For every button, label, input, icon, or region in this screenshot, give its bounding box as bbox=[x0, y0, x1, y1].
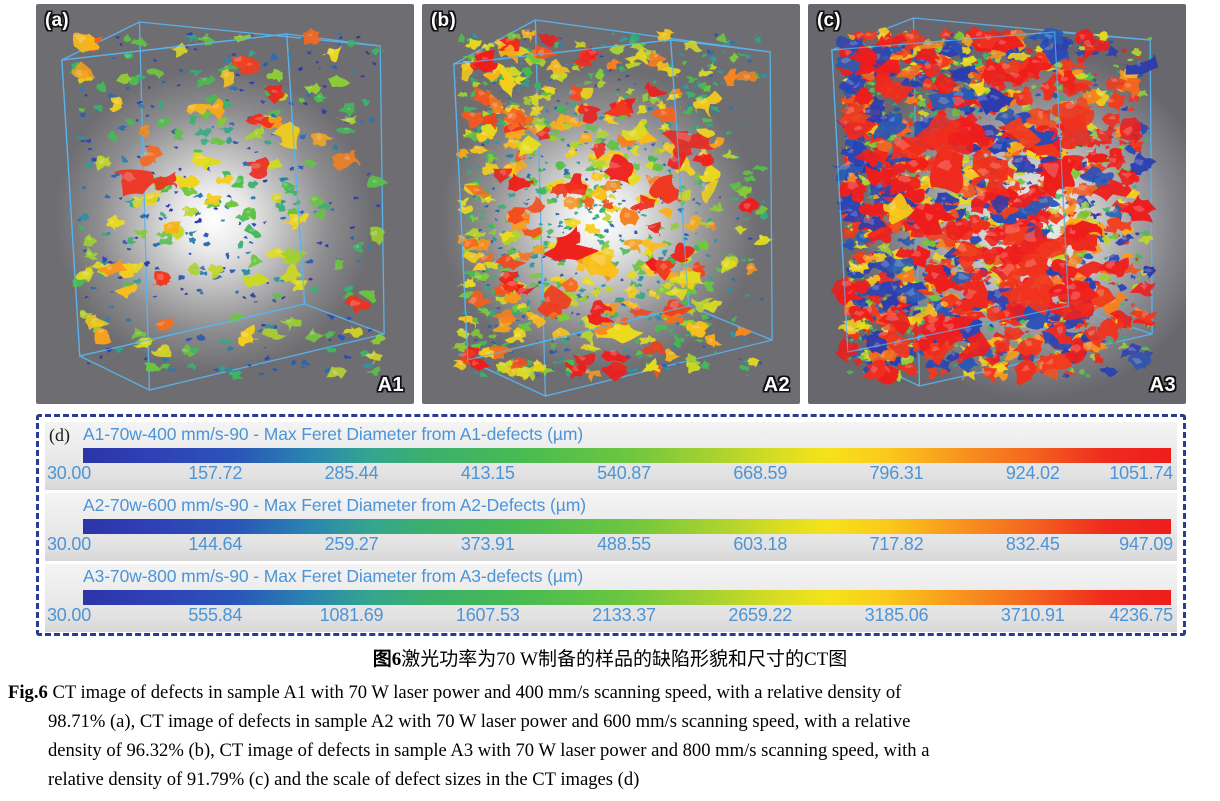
colorbar-a2-title: A2-70w-600 mm/s-90 - Max Feret Diameter … bbox=[83, 495, 586, 516]
ct-panel-a1: (a) A1 bbox=[36, 4, 414, 404]
ct-image-row: (a) A1 (b) A2 (c) A3 bbox=[0, 0, 1220, 408]
caption-line-2: 98.71% (a), CT image of defects in sampl… bbox=[8, 707, 1214, 736]
colorbar-tick: 796.31 bbox=[870, 463, 924, 484]
colorbar-tick: 4236.75 bbox=[1109, 605, 1173, 626]
colorbar-tick: 3185.06 bbox=[865, 605, 929, 626]
ct-render-a2 bbox=[422, 4, 800, 404]
caption-english: Fig.6 CT image of defects in sample A1 w… bbox=[8, 678, 1214, 794]
panel-tag-c: (c) bbox=[817, 10, 841, 32]
colorbar-tick: 603.18 bbox=[733, 534, 787, 555]
panel-code-a2: A2 bbox=[764, 374, 790, 397]
colorbar-tick: 488.55 bbox=[597, 534, 651, 555]
ct-render-a1 bbox=[36, 4, 414, 404]
colorbar-tick: 924.02 bbox=[1006, 463, 1060, 484]
colorbar-a1-ticks: 30.00157.72285.44413.15540.87668.59796.3… bbox=[45, 463, 1177, 489]
caption-english-label: Fig.6 bbox=[8, 682, 48, 703]
caption-english-line-1: CT image of defects in sample A1 with 70… bbox=[52, 682, 901, 703]
colorbar-a1: A1-70w-400 mm/s-90 - Max Feret Diameter … bbox=[45, 422, 1177, 490]
caption-line-4: relative density of 91.79% (c) and the s… bbox=[8, 765, 1214, 794]
colorbar-tick: 1051.74 bbox=[1109, 463, 1173, 484]
colorbar-tick: 2133.37 bbox=[592, 605, 656, 626]
figure-page: (a) A1 (b) A2 (c) A3 (d) A1-70w-400 mm/s… bbox=[0, 0, 1220, 801]
panel-code-a1: A1 bbox=[378, 374, 404, 397]
colorbar-a3-ticks: 30.00555.841081.691607.532133.372659.223… bbox=[45, 605, 1177, 631]
colorbar-tick: 947.09 bbox=[1119, 534, 1173, 555]
colorbar-a2-ticks: 30.00144.64259.27373.91488.55603.18717.8… bbox=[45, 534, 1177, 560]
ct-panel-a3: (c) A3 bbox=[808, 4, 1186, 404]
colorbar-a1-gradient bbox=[83, 448, 1171, 463]
caption-chinese: 图6激光功率为70 W制备的样品的缺陷形貌和尺寸的CT图 bbox=[0, 644, 1220, 671]
caption-chinese-text: 激光功率为70 W制备的样品的缺陷形貌和尺寸的CT图 bbox=[401, 649, 847, 670]
colorbar-tick: 717.82 bbox=[870, 534, 924, 555]
defect-size-scale-legend: (d) A1-70w-400 mm/s-90 - Max Feret Diame… bbox=[36, 414, 1186, 636]
panel-tag-b: (b) bbox=[431, 10, 456, 32]
colorbar-a1-title: A1-70w-400 mm/s-90 - Max Feret Diameter … bbox=[83, 424, 583, 445]
ct-panel-a2: (b) A2 bbox=[422, 4, 800, 404]
panel-tag-a: (a) bbox=[45, 10, 69, 32]
colorbar-tick: 668.59 bbox=[733, 463, 787, 484]
colorbar-a2: A2-70w-600 mm/s-90 - Max Feret Diameter … bbox=[45, 493, 1177, 561]
colorbar-tick: 2659.22 bbox=[728, 605, 792, 626]
colorbar-tick: 285.44 bbox=[325, 463, 379, 484]
ct-render-a3 bbox=[808, 4, 1186, 404]
colorbar-tick: 1607.53 bbox=[456, 605, 520, 626]
colorbar-a3-gradient bbox=[83, 590, 1171, 605]
colorbar-tick: 30.00 bbox=[47, 463, 91, 484]
colorbar-tick: 1081.69 bbox=[320, 605, 384, 626]
colorbar-tick: 373.91 bbox=[461, 534, 515, 555]
colorbar-tick: 30.00 bbox=[47, 605, 91, 626]
colorbar-tick: 3710.91 bbox=[1001, 605, 1065, 626]
colorbar-tick: 144.64 bbox=[188, 534, 242, 555]
caption-line-1: Fig.6 CT image of defects in sample A1 w… bbox=[8, 678, 1214, 707]
colorbar-a3-title: A3-70w-800 mm/s-90 - Max Feret Diameter … bbox=[83, 566, 583, 587]
caption-line-3: density of 96.32% (b), CT image of defec… bbox=[8, 736, 1214, 765]
colorbar-tick: 832.45 bbox=[1006, 534, 1060, 555]
colorbar-tick: 259.27 bbox=[325, 534, 379, 555]
colorbar-tick: 413.15 bbox=[461, 463, 515, 484]
caption-chinese-label: 图6 bbox=[373, 649, 402, 670]
panel-code-a3: A3 bbox=[1150, 374, 1176, 397]
colorbar-tick: 157.72 bbox=[188, 463, 242, 484]
colorbar-a3: A3-70w-800 mm/s-90 - Max Feret Diameter … bbox=[45, 564, 1177, 632]
colorbar-tick: 30.00 bbox=[47, 534, 91, 555]
legend-tag-d: (d) bbox=[49, 425, 70, 446]
colorbar-tick: 555.84 bbox=[188, 605, 242, 626]
colorbar-tick: 540.87 bbox=[597, 463, 651, 484]
colorbar-a2-gradient bbox=[83, 519, 1171, 534]
